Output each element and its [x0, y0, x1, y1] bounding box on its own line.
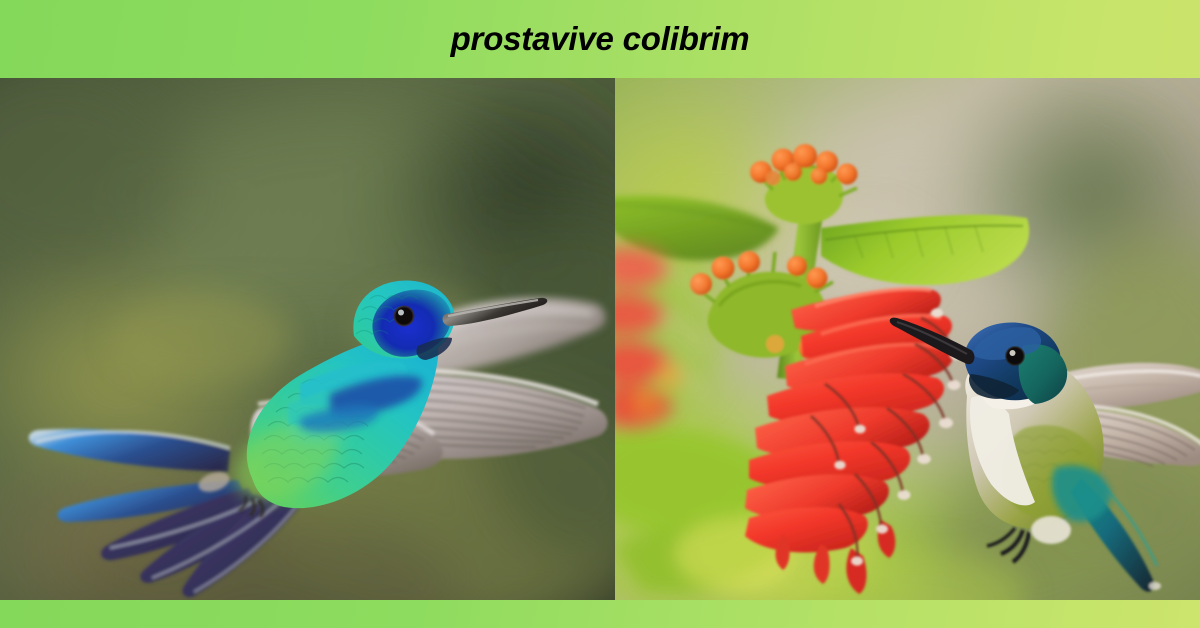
promo-banner: prostavive colibrim [0, 0, 1200, 628]
photo-hummingbird-in-flight [0, 78, 615, 600]
hummingbird-feeding-illustration [615, 78, 1200, 600]
photo-strip [0, 78, 1200, 600]
hummingbird-flight-illustration [0, 78, 615, 600]
bottom-green-bar [0, 600, 1200, 628]
page-title: prostavive colibrim [451, 22, 750, 55]
photo-hummingbird-feeding [615, 78, 1200, 600]
title-bar: prostavive colibrim [0, 0, 1200, 78]
